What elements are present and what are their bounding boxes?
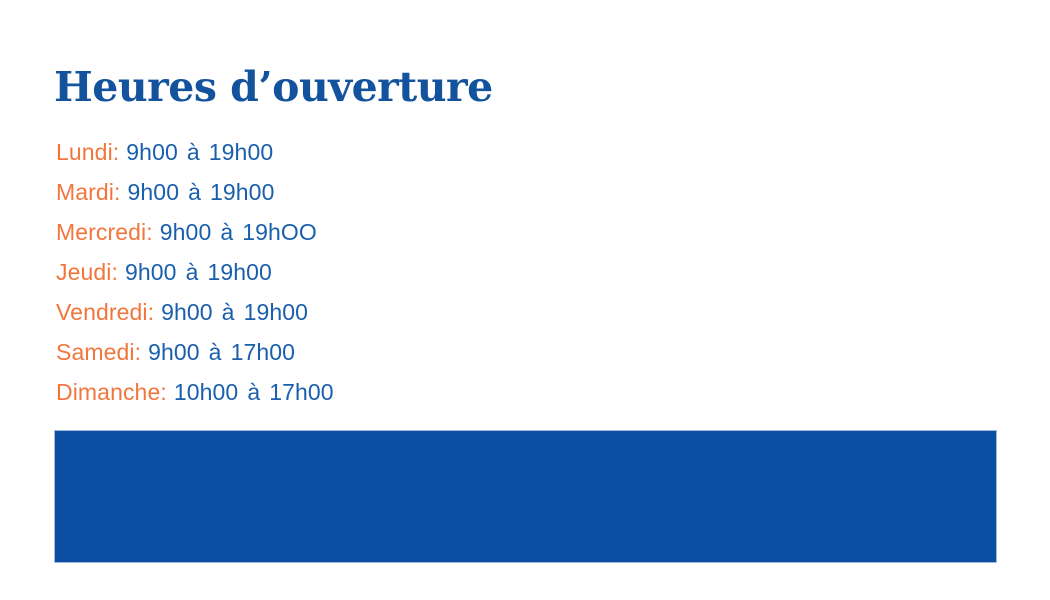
list-item: Jeudi:9h00à19h00 [56,252,616,292]
day-label: Jeudi: [56,259,118,285]
list-item: Mercredi:9h00à19hOO [56,212,616,252]
opening-time: 9h00 [160,219,212,245]
image-placeholder-banner [54,430,997,563]
opening-time: 9h00 [126,139,178,165]
opening-time: 10h00 [174,379,238,405]
list-item: Vendredi:9h00à19h00 [56,292,616,332]
opening-time: 9h00 [128,179,180,205]
day-label: Lundi: [56,139,119,165]
closing-time: 17h00 [231,339,295,365]
closing-time: 19h00 [207,259,271,285]
day-label: Mercredi: [56,219,153,245]
time-range-separator: à [177,252,208,292]
day-label: Samedi: [56,339,141,365]
day-label: Mardi: [56,179,121,205]
opening-time: 9h00 [161,299,213,325]
time-range-separator: à [179,172,210,212]
list-item: Samedi:9h00à17h00 [56,332,616,372]
slide-canvas: Heures d’ouverture Lundi:9h00à19h00 Mard… [0,0,1050,600]
time-range-separator: à [178,132,209,172]
page-title: Heures d’ouverture [54,62,493,112]
list-item: Lundi:9h00à19h00 [56,132,616,172]
opening-time: 9h00 [148,339,200,365]
list-item: Dimanche:10h00à17h00 [56,372,616,412]
closing-time: 19h00 [210,179,274,205]
time-range-separator: à [211,212,242,252]
time-range-separator: à [213,292,244,332]
closing-time: 19hOO [242,219,317,245]
time-range-separator: à [200,332,231,372]
day-label: Vendredi: [56,299,154,325]
closing-time: 19h00 [209,139,273,165]
day-label: Dimanche: [56,379,167,405]
opening-hours-list: Lundi:9h00à19h00 Mardi:9h00à19h00 Mercre… [56,132,616,412]
closing-time: 19h00 [244,299,308,325]
time-range-separator: à [238,372,269,412]
list-item: Mardi:9h00à19h00 [56,172,616,212]
closing-time: 17h00 [269,379,333,405]
opening-time: 9h00 [125,259,177,285]
